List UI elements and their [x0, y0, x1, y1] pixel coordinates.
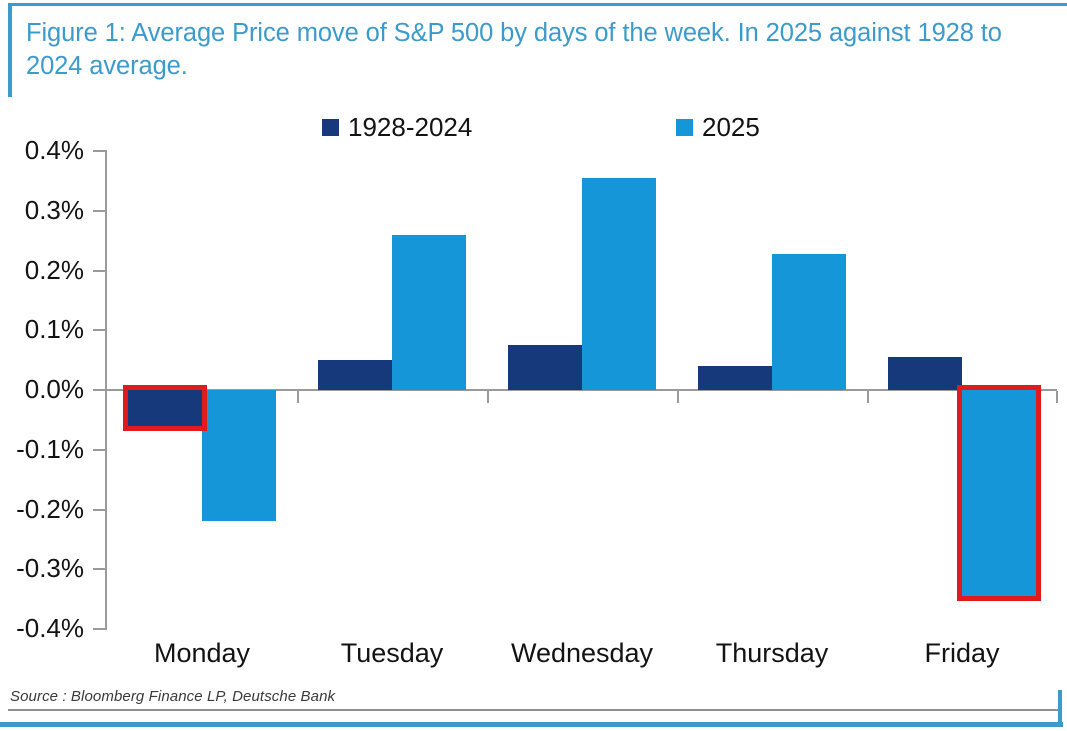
x-axis-label-monday: Monday — [107, 638, 297, 668]
bar-tuesday-2025[interactable] — [392, 235, 466, 390]
y-axis-tick — [93, 628, 105, 630]
y-axis-tick-label: 0.0% — [0, 376, 84, 402]
y-axis-tick — [93, 568, 105, 570]
y-axis-tick — [93, 329, 105, 331]
bar-wednesday-2025[interactable] — [582, 178, 656, 390]
bar-monday-1928-2024[interactable] — [128, 390, 202, 426]
y-axis-tick — [93, 150, 105, 152]
y-axis-tick-label: 0.1% — [0, 316, 84, 342]
y-axis-tick-label: -0.4% — [0, 615, 84, 641]
y-axis-tick-label: 0.4% — [0, 137, 84, 163]
category-separator-tick — [487, 391, 489, 403]
y-axis-tick-label: -0.3% — [0, 555, 84, 581]
y-axis-tick — [93, 270, 105, 272]
bar-friday-2025[interactable] — [962, 390, 1036, 596]
y-axis-tick — [93, 509, 105, 511]
y-axis-tick — [93, 389, 105, 391]
y-axis-tick-label: 0.3% — [0, 197, 84, 223]
bar-thursday-1928-2024[interactable] — [698, 366, 772, 390]
bottom-accent-rule — [0, 722, 1063, 727]
source-note: Source : Bloomberg Finance LP, Deutsche … — [10, 688, 335, 705]
y-axis-tick-label: -0.1% — [0, 436, 84, 462]
bar-tuesday-1928-2024[interactable] — [318, 360, 392, 390]
source-divider — [8, 709, 1058, 711]
x-axis-label-tuesday: Tuesday — [297, 638, 487, 668]
x-axis-label-thursday: Thursday — [677, 638, 867, 668]
bar-friday-1928-2024[interactable] — [888, 357, 962, 390]
y-axis-tick-label: -0.2% — [0, 496, 84, 522]
category-separator-tick — [1056, 391, 1058, 403]
category-separator-tick — [867, 391, 869, 403]
y-axis-tick-label: 0.2% — [0, 257, 84, 283]
figure-container: Figure 1: Average Price move of S&P 500 … — [0, 0, 1067, 731]
bar-thursday-2025[interactable] — [772, 254, 846, 390]
bar-monday-2025[interactable] — [202, 390, 276, 521]
category-separator-tick — [297, 391, 299, 403]
y-axis-tick — [93, 210, 105, 212]
x-axis-label-friday: Friday — [867, 638, 1057, 668]
category-separator-tick — [677, 391, 679, 403]
y-axis-tick — [93, 449, 105, 451]
bar-wednesday-1928-2024[interactable] — [508, 345, 582, 390]
chart-plot-area: 0.4%0.3%0.2%0.1%0.0%-0.1%-0.2%-0.3%-0.4%… — [0, 0, 1067, 731]
x-axis-label-wednesday: Wednesday — [487, 638, 677, 668]
